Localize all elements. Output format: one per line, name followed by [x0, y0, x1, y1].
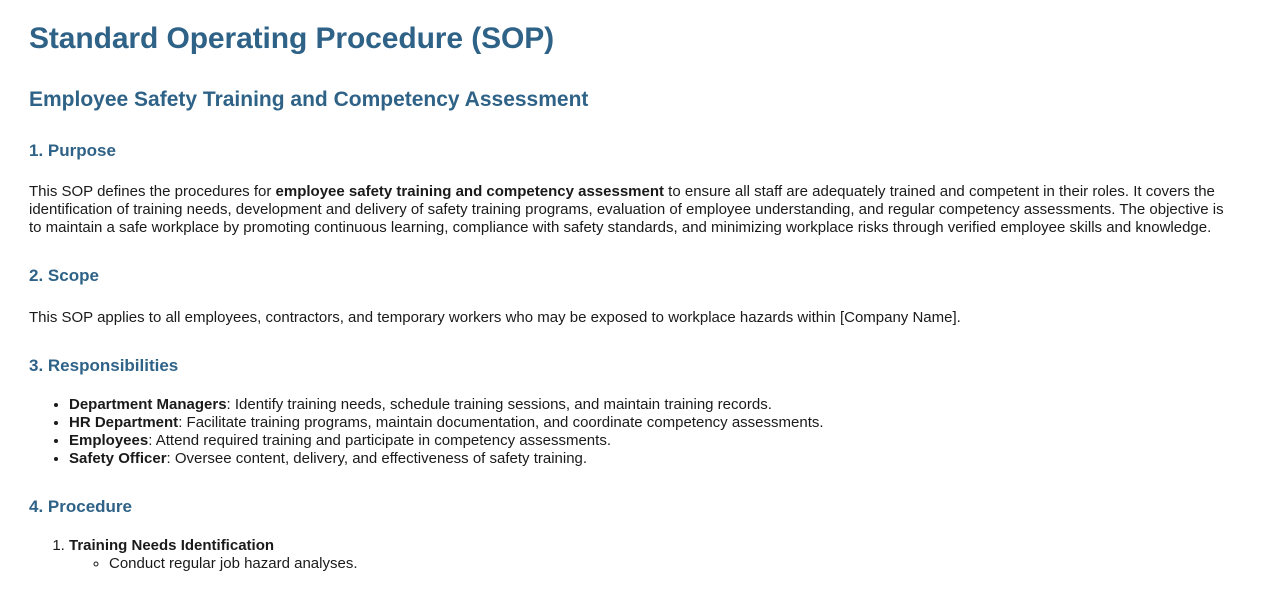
procedure-step-title: Training Needs Identification: [69, 537, 274, 554]
section-heading-responsibilities: 3. Responsibilities: [29, 356, 1225, 376]
document-page: Standard Operating Procedure (SOP) Emplo…: [0, 0, 1263, 573]
purpose-paragraph: This SOP defines the procedures for empl…: [29, 183, 1225, 237]
procedure-list: Training Needs Identification Conduct re…: [29, 537, 1225, 573]
responsibility-role: Safety Officer: [69, 450, 167, 467]
section-heading-scope: 2. Scope: [29, 266, 1225, 286]
scope-paragraph: This SOP applies to all employees, contr…: [29, 309, 1225, 327]
list-item: Department Managers: Identify training n…: [69, 396, 1225, 414]
responsibility-description: Oversee content, delivery, and effective…: [175, 450, 587, 467]
procedure-substep-list: Conduct regular job hazard analyses.: [69, 555, 1225, 573]
list-item: Safety Officer: Oversee content, deliver…: [69, 450, 1225, 468]
responsibility-description: Identify training needs, schedule traini…: [235, 396, 772, 413]
document-subtitle: Employee Safety Training and Competency …: [29, 87, 1225, 112]
section-heading-procedure: 4. Procedure: [29, 497, 1225, 517]
responsibility-description: Attend required training and participate…: [156, 432, 611, 449]
responsibility-separator: :: [227, 396, 235, 413]
responsibility-separator: :: [167, 450, 175, 467]
responsibility-role: HR Department: [69, 414, 178, 431]
responsibility-role: Employees: [69, 432, 148, 449]
responsibility-role: Department Managers: [69, 396, 227, 413]
responsibility-separator: :: [148, 432, 156, 449]
section-heading-purpose: 1. Purpose: [29, 141, 1225, 161]
list-item: Training Needs Identification Conduct re…: [69, 537, 1225, 573]
list-item: Employees: Attend required training and …: [69, 432, 1225, 450]
responsibility-separator: :: [178, 414, 186, 431]
list-item: HR Department: Facilitate training progr…: [69, 414, 1225, 432]
responsibilities-list: Department Managers: Identify training n…: [29, 396, 1225, 468]
page-title: Standard Operating Procedure (SOP): [29, 22, 1225, 57]
purpose-text-lead: This SOP defines the procedures for: [29, 183, 276, 200]
responsibility-description: Facilitate training programs, maintain d…: [187, 414, 824, 431]
purpose-emphasis: employee safety training and competency …: [276, 183, 664, 200]
list-item: Conduct regular job hazard analyses.: [109, 555, 1225, 573]
